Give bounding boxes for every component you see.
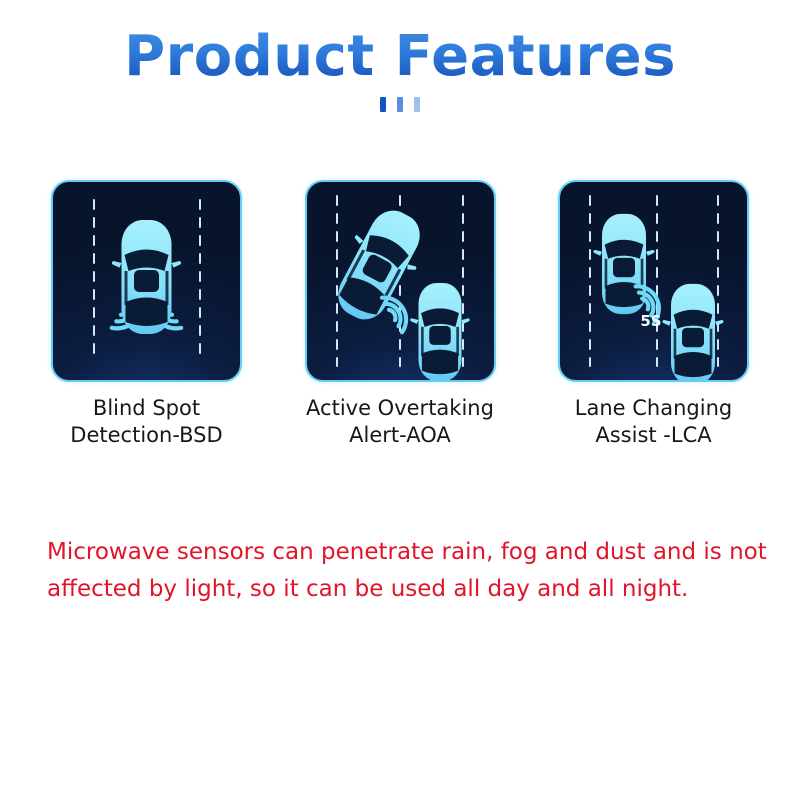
- car-right-icon: [663, 284, 724, 380]
- feature-caption-lca: Lane Changing Assist -LCA: [575, 395, 732, 449]
- separator-bar-light-icon: [414, 97, 420, 112]
- feature-caption-aoa: Active Overtaking Alert-AOA: [275, 395, 525, 449]
- feature-caption-bsd: Blind Spot Detection-BSD: [70, 395, 222, 449]
- header: Product Features: [0, 0, 800, 87]
- microwave-sensor-note: Microwave sensors can penetrate rain, fo…: [47, 534, 769, 609]
- page-title: Product Features: [124, 28, 676, 87]
- illustration-bsd: [51, 180, 242, 382]
- bsd-scene-icon: [53, 182, 240, 380]
- separator-bars: [0, 97, 800, 113]
- radar-timer-label: 5S: [640, 312, 661, 330]
- lca-scene-icon: 5S: [560, 182, 747, 380]
- illustration-lca: 5S: [558, 180, 749, 382]
- feature-card-aoa[interactable]: Active Overtaking Alert-AOA: [303, 180, 498, 449]
- car-top-view-icon: [112, 220, 181, 334]
- separator-bar-dark-icon: [380, 97, 386, 112]
- illustration-aoa: [305, 180, 496, 382]
- separator-bar-medium-icon: [397, 97, 403, 112]
- feature-card-bsd[interactable]: Blind Spot Detection-BSD: [49, 180, 244, 449]
- feature-card-lca[interactable]: 5S Lane Changing Assist -LCA: [556, 180, 751, 449]
- aoa-scene-icon: [307, 182, 494, 380]
- radar-waves-icon: [382, 291, 413, 332]
- car-second-icon: [410, 283, 470, 380]
- feature-cards-row: Blind Spot Detection-BSD: [0, 180, 800, 449]
